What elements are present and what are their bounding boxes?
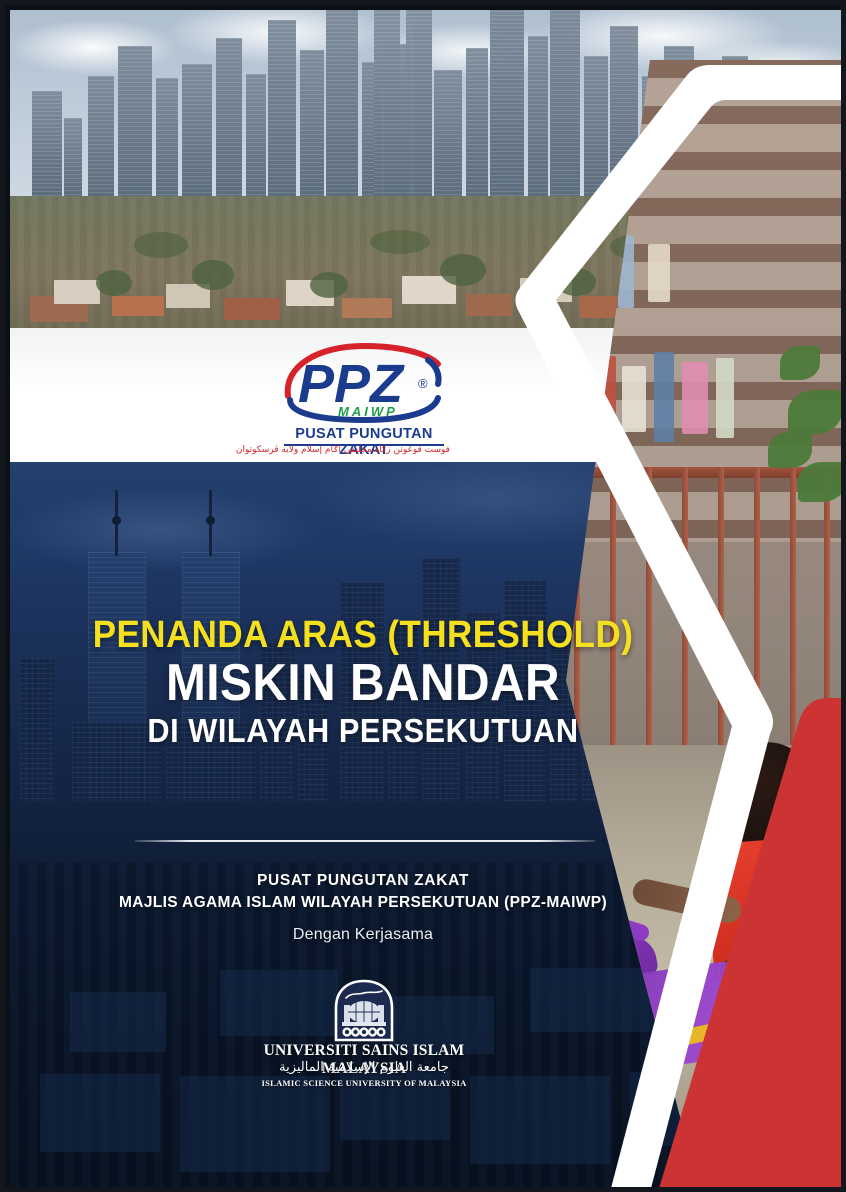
dome-base <box>342 1022 386 1026</box>
usim-shield-crest <box>332 978 396 1044</box>
ppz-jawi-line: فوست ڤوڠوتن زكاة مجليس اݢام إسلام ولايه … <box>278 445 450 455</box>
cover-canvas: PPZ ® MAIWP PUSAT PUNGUTAN ZAKAT فوست ڤو… <box>10 10 846 1192</box>
ppz-logo: PPZ ® MAIWP PUSAT PUNGUTAN ZAKAT فوست ڤو… <box>278 340 450 458</box>
publisher-line-1: PUSAT PUNGUTAN ZAKAT <box>10 870 716 892</box>
usim-name-english: ISLAMIC SCIENCE UNIVERSITY OF MALAYSIA <box>248 1078 480 1088</box>
usim-logo: UNIVERSITI SAINS ISLAM MALAYSIA جامعة ال… <box>248 978 480 1098</box>
usim-name-arabic: جامعة العلوم الإسلامية الماليزية <box>248 1060 480 1075</box>
title-line-3: DI WILAYAH PERSEKUTUAN <box>35 714 692 749</box>
bicycle-wheel-rear <box>734 1030 830 1126</box>
ppz-logomark: PPZ ® MAIWP <box>278 340 450 424</box>
book-cover-page: PPZ ® MAIWP PUSAT PUNGUTAN ZAKAT فوست ڤو… <box>0 0 846 1192</box>
publisher-line-2: MAJLIS AGAMA ISLAM WILAYAH PERSEKUTUAN (… <box>10 892 716 914</box>
publisher-block: PUSAT PUNGUTAN ZAKAT MAJLIS AGAMA ISLAM … <box>10 870 716 914</box>
cover-title-block: PENANDA ARAS (THRESHOLD) MISKIN BANDAR D… <box>10 616 716 748</box>
title-line-1: PENANDA ARAS (THRESHOLD) <box>38 616 688 655</box>
ppz-registered-mark: ® <box>418 376 428 391</box>
title-divider-rule <box>135 840 595 842</box>
ppz-maiwp-text: MAIWP <box>338 404 398 419</box>
title-line-2: MISKIN BANDAR <box>38 657 688 710</box>
collaboration-label: Dengan Kerjasama <box>10 926 716 944</box>
